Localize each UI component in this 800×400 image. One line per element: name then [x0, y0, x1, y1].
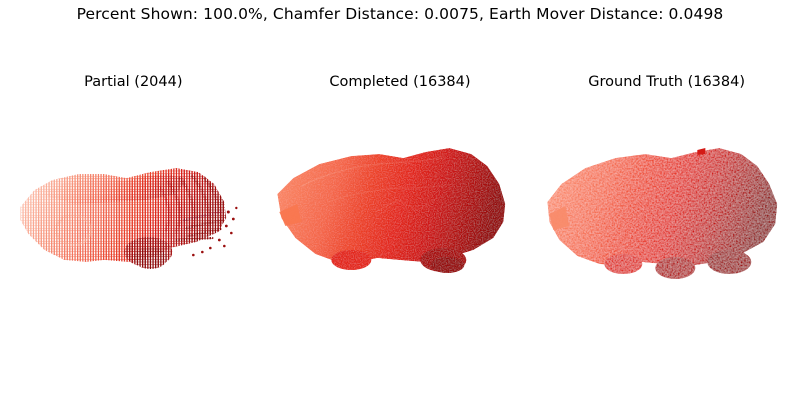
point-cloud-completed: [267, 62, 534, 400]
figure-canvas: Percent Shown: 100.0%, Chamfer Distance:…: [0, 0, 800, 400]
subplot-partial: Partial (2044): [0, 62, 267, 400]
point-cloud-partial: [0, 62, 267, 400]
figure-suptitle: Percent Shown: 100.0%, Chamfer Distance:…: [0, 0, 800, 28]
point-cloud-ground-truth: [533, 62, 800, 400]
ground-truth-roof-nub: [698, 148, 706, 155]
point-cloud-partial-svg: [0, 62, 267, 400]
partial-rear-wheel: [124, 237, 172, 269]
subplot-completed: Completed (16384): [267, 62, 534, 400]
subplot-ground-truth: Ground Truth (16384): [533, 62, 800, 400]
completed-body: [277, 148, 505, 262]
point-cloud-ground-truth-svg: [533, 62, 800, 400]
subplot-row: Partial (2044): [0, 62, 800, 400]
ground-truth-body: [548, 148, 778, 266]
point-cloud-completed-svg: [267, 62, 534, 400]
